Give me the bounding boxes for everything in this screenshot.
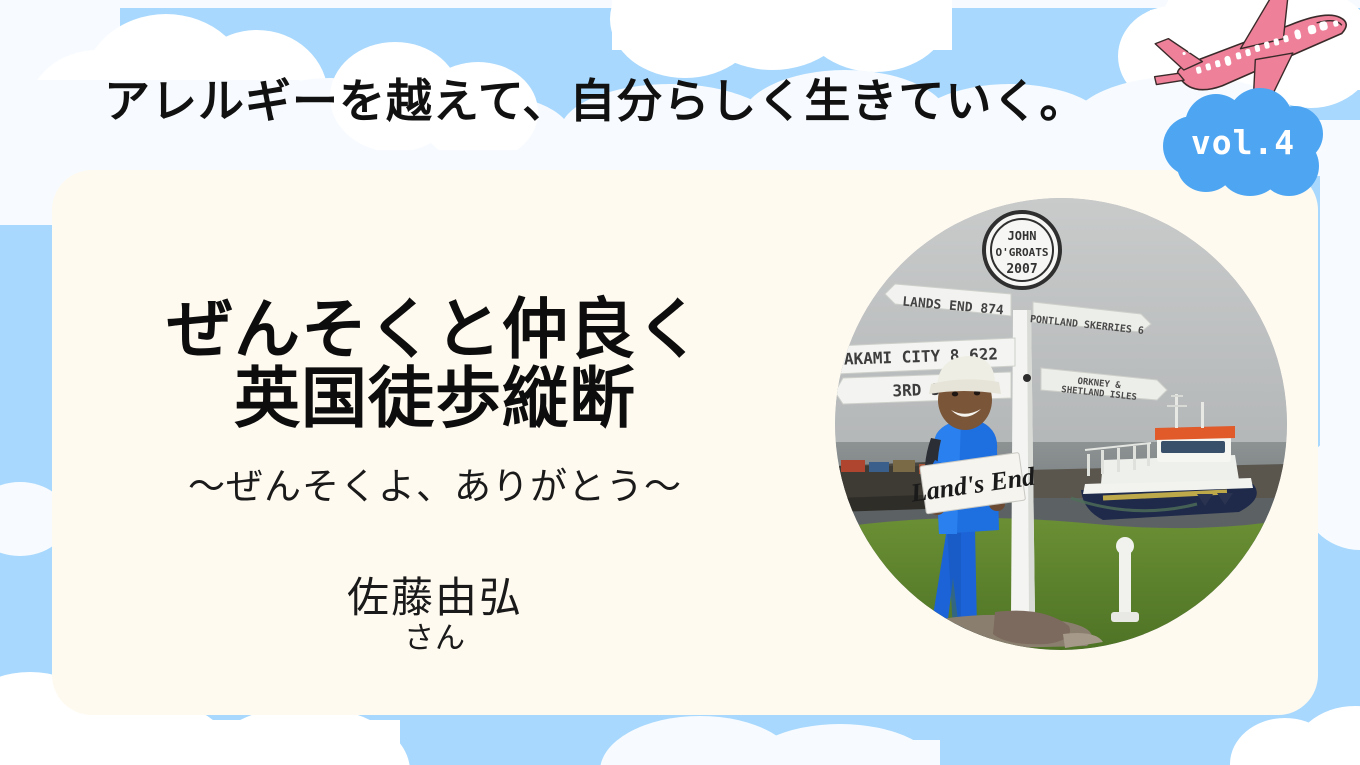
author-name: 佐藤由弘 bbox=[90, 576, 780, 620]
svg-text:O'GROATS: O'GROATS bbox=[996, 246, 1049, 259]
cloud-topright-base bbox=[612, 0, 952, 50]
profile-photo: JOHN O'GROATS 2007 LANDS END 874 PONTLAN… bbox=[835, 198, 1287, 650]
poster-canvas: アレルギーを越えて、自分らしく生きていく。 bbox=[0, 0, 1360, 765]
svg-text:2007: 2007 bbox=[1006, 262, 1037, 277]
volume-badge-label: vol.4 bbox=[1163, 88, 1323, 196]
cloud-bottom-base-mid bbox=[620, 740, 940, 765]
main-title-line-2: 英国徒歩縦断 bbox=[90, 364, 780, 433]
page-tagline: アレルギーを越えて、自分らしく生きていく。 bbox=[104, 78, 1086, 124]
title-block: ぜんそくと仲良く 英国徒歩縦断 〜ぜんそくよ、ありがとう〜 佐藤由弘 さん bbox=[90, 295, 780, 658]
volume-badge[interactable]: vol.4 bbox=[1163, 88, 1323, 196]
author-honorific: さん bbox=[90, 620, 780, 658]
cloud-bottom-base-right bbox=[1250, 738, 1360, 765]
main-title-line-1: ぜんそくと仲良く bbox=[90, 295, 780, 364]
subtitle: 〜ぜんそくよ、ありがとう〜 bbox=[90, 456, 780, 510]
cloud-bottom-base-left bbox=[0, 720, 400, 765]
svg-text:JOHN: JOHN bbox=[1008, 229, 1037, 243]
